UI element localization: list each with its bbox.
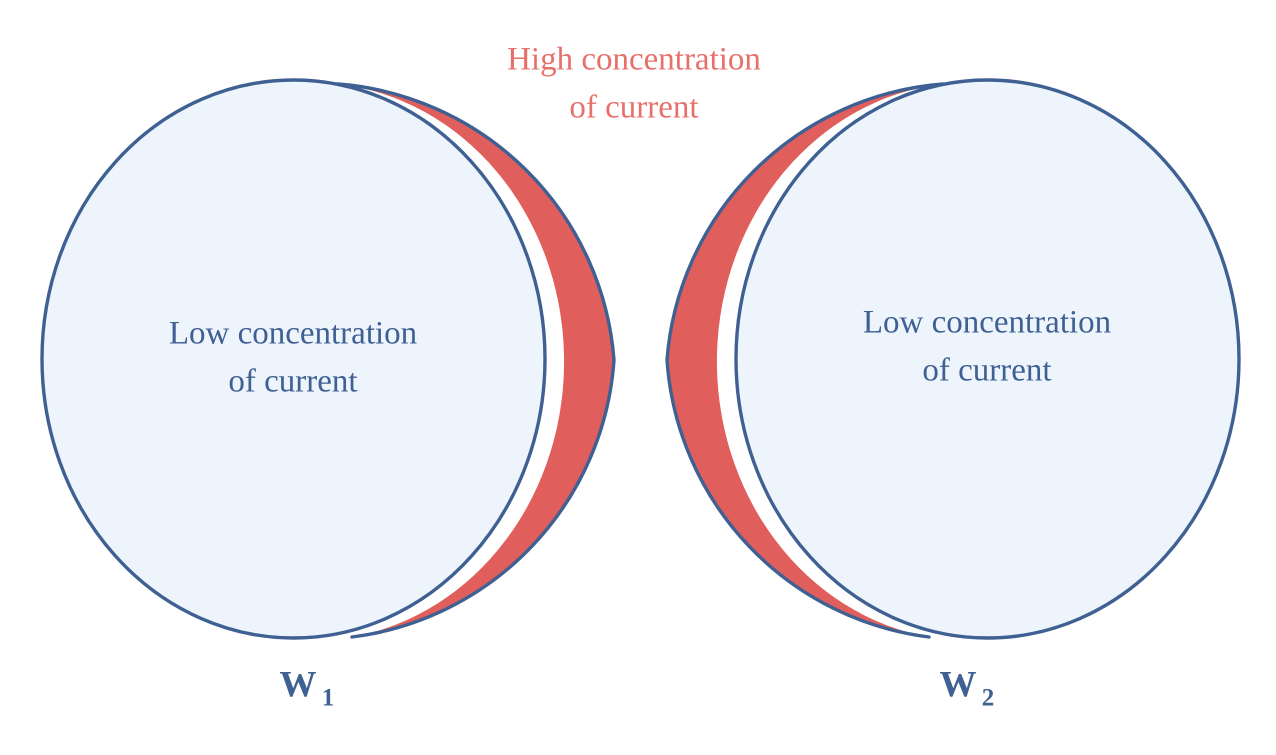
conductor-group-w2: Low concentration of current W 2 — [667, 80, 1239, 712]
w1-inner-label-line2: of current — [228, 364, 357, 400]
w2-caption: W — [940, 664, 977, 705]
skin-effect-diagram: Low concentration of current W 1 Low con… — [0, 0, 1276, 755]
w1-inner-label-line1: Low concentration — [169, 316, 417, 352]
w1-caption-subscript: 1 — [322, 685, 335, 712]
conductor-body-w1 — [42, 80, 545, 638]
high-label-line1: High concentration — [507, 42, 761, 78]
w2-inner-label-line1: Low concentration — [863, 305, 1111, 341]
w2-inner-label-line2: of current — [922, 353, 1051, 389]
w1-caption: W — [280, 664, 317, 705]
diagram-canvas: Low concentration of current W 1 Low con… — [0, 0, 1276, 755]
high-label-line2: of current — [569, 90, 698, 126]
conductor-group-w1: Low concentration of current W 1 — [42, 80, 614, 712]
w2-caption-subscript: 2 — [982, 685, 995, 712]
high-concentration-annotation: High concentration of current — [507, 42, 761, 126]
